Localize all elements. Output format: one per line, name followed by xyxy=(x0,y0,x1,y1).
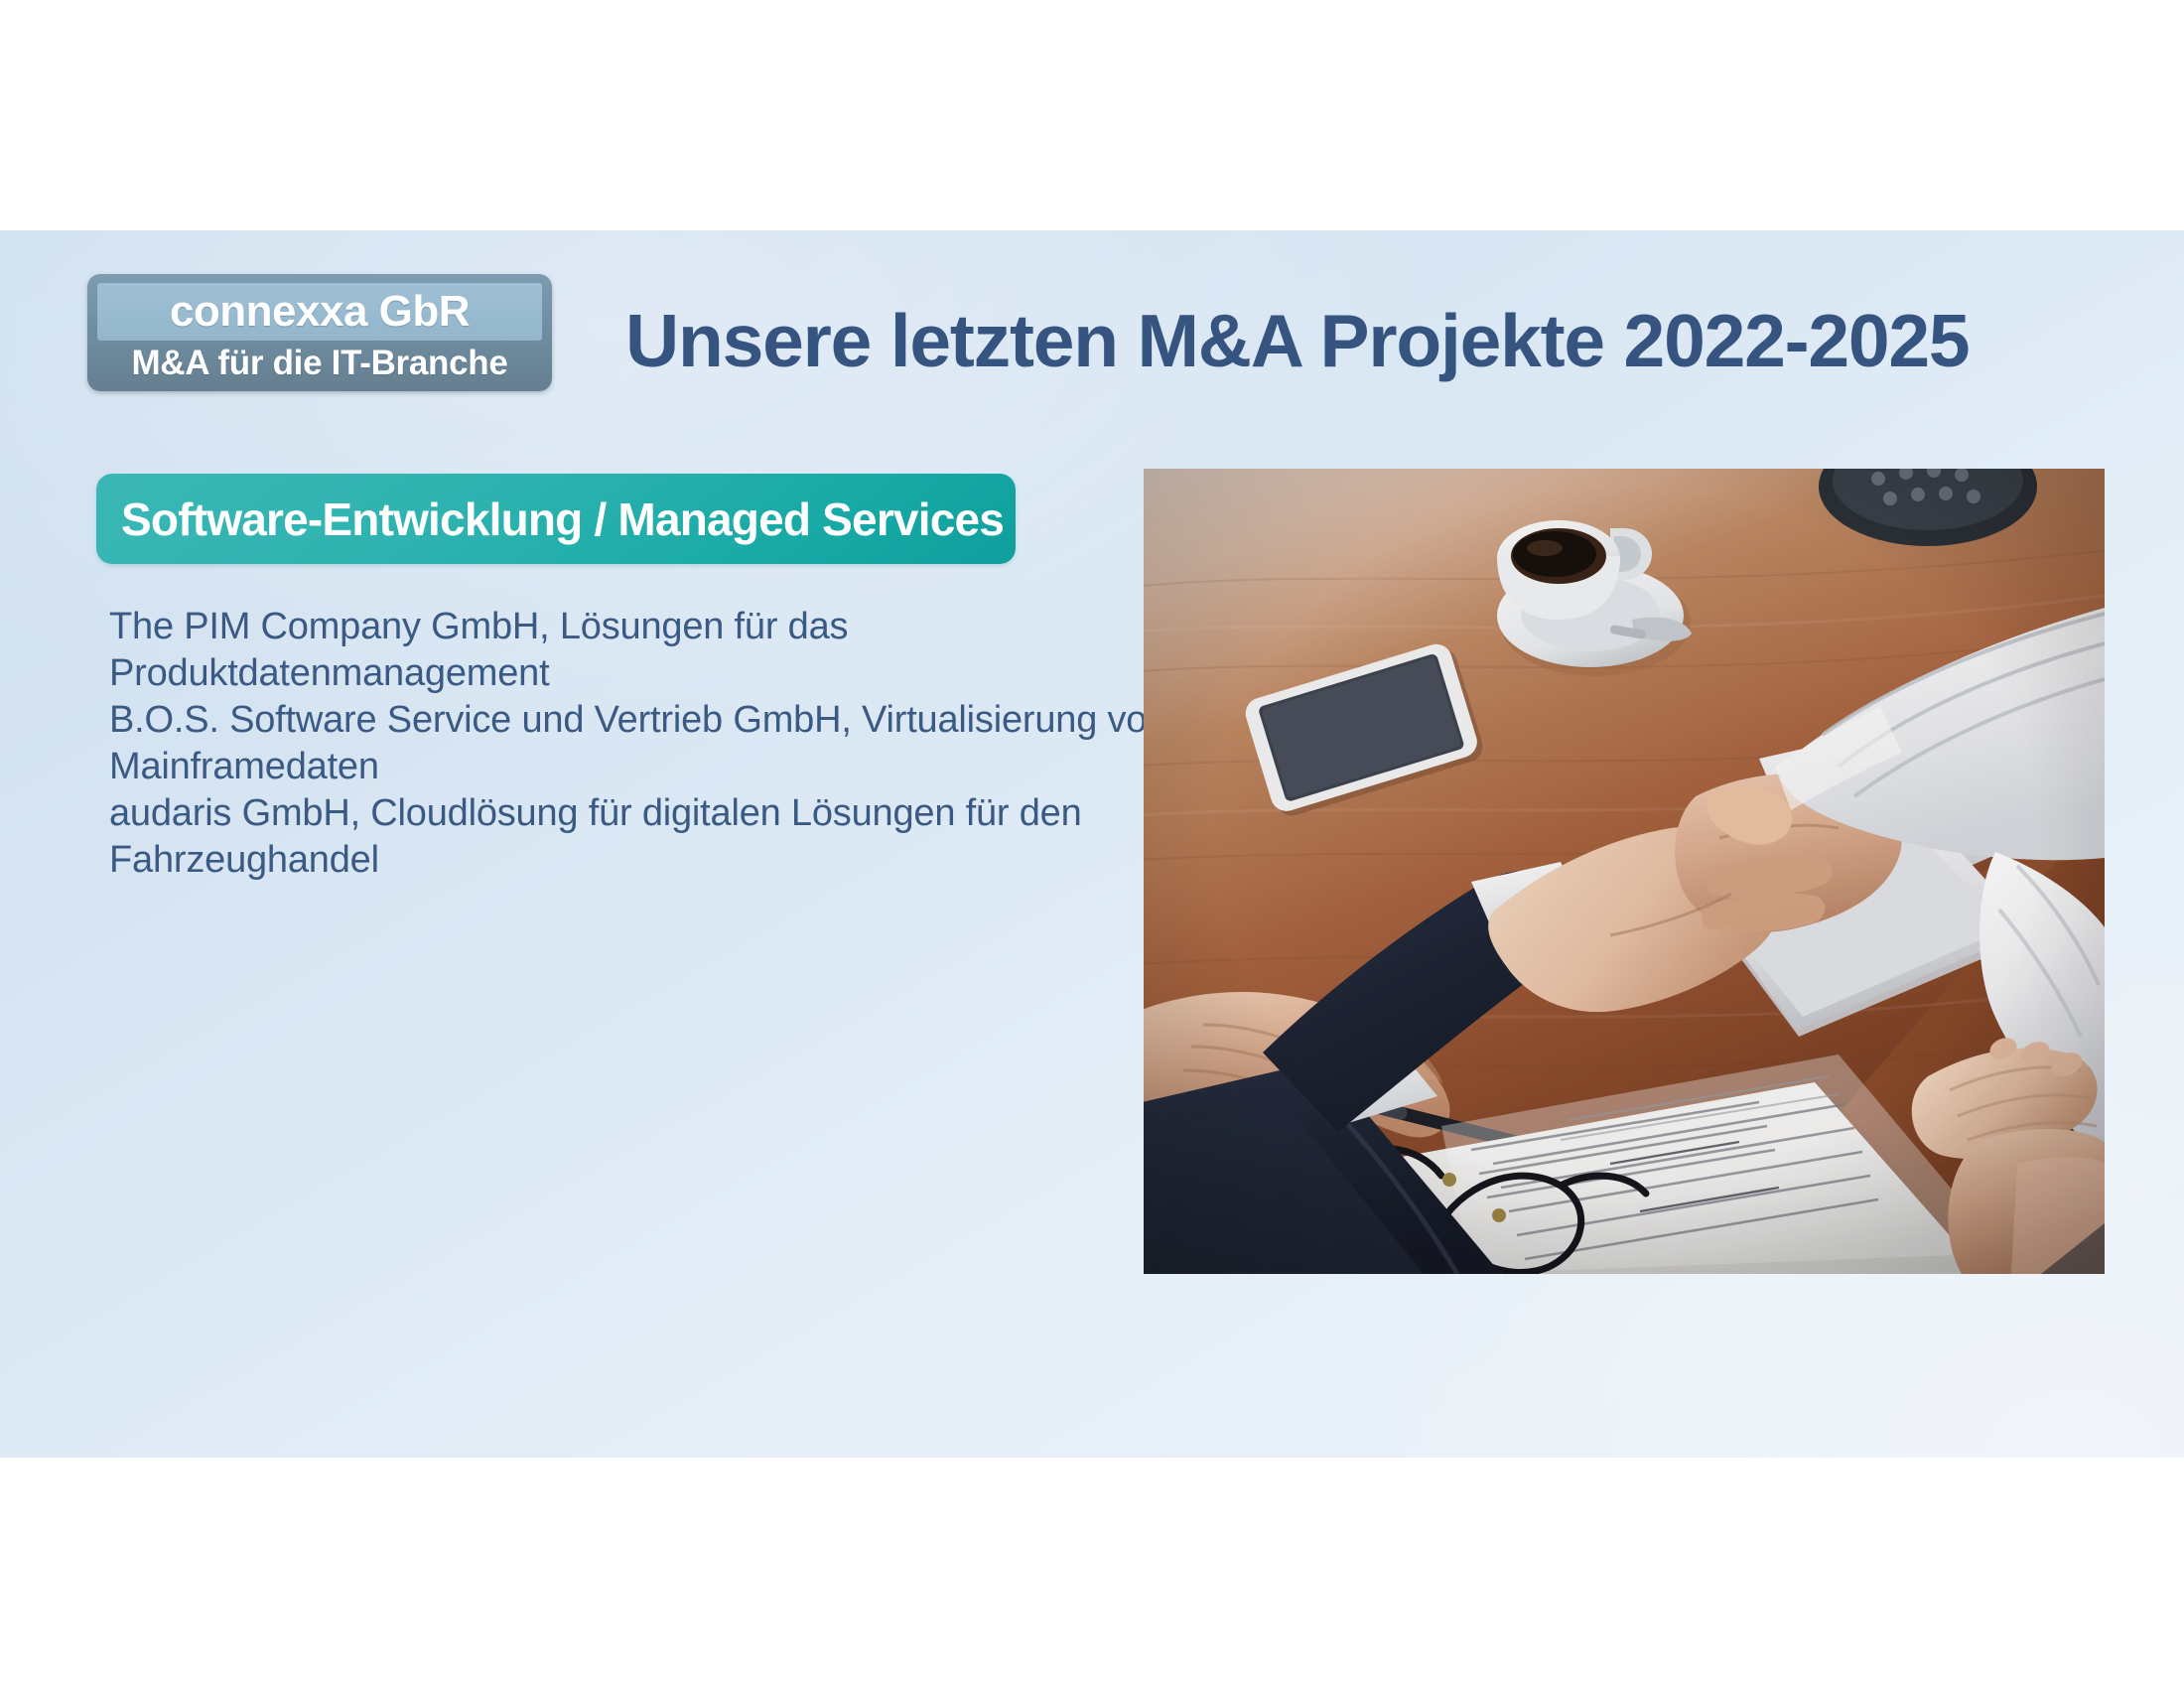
section-banner-label: Software-Entwicklung / Managed Services xyxy=(121,496,1004,542)
project-line: Produktdatenmanagement xyxy=(109,650,1112,697)
logo-tagline-band: M&A für die IT-Branche xyxy=(97,341,542,385)
project-line: B.O.S. Software Service und Vertrieb Gmb… xyxy=(109,697,1112,744)
handshake-photo xyxy=(1144,469,2105,1274)
project-line: The PIM Company GmbH, Lösungen für das xyxy=(109,604,1112,650)
logo-name-band: connexxa GbR xyxy=(97,283,542,341)
handshake-photo-illustration xyxy=(1144,469,2105,1274)
project-line: Fahrzeughandel xyxy=(109,837,1112,884)
logo-tagline: M&A für die IT-Branche xyxy=(131,346,507,380)
company-logo: connexxa GbR M&A für die IT-Branche xyxy=(87,274,552,391)
project-line: Mainframedaten xyxy=(109,744,1112,790)
page-title: Unsere letzten M&A Projekte 2022-2025 xyxy=(625,304,2095,378)
logo-company-name: connexxa GbR xyxy=(170,290,470,334)
section-banner: Software-Entwicklung / Managed Services xyxy=(96,474,1016,564)
project-list: The PIM Company GmbH, Lösungen für das P… xyxy=(109,604,1112,884)
project-line: audaris GmbH, Cloudlösung für digitalen … xyxy=(109,790,1112,837)
